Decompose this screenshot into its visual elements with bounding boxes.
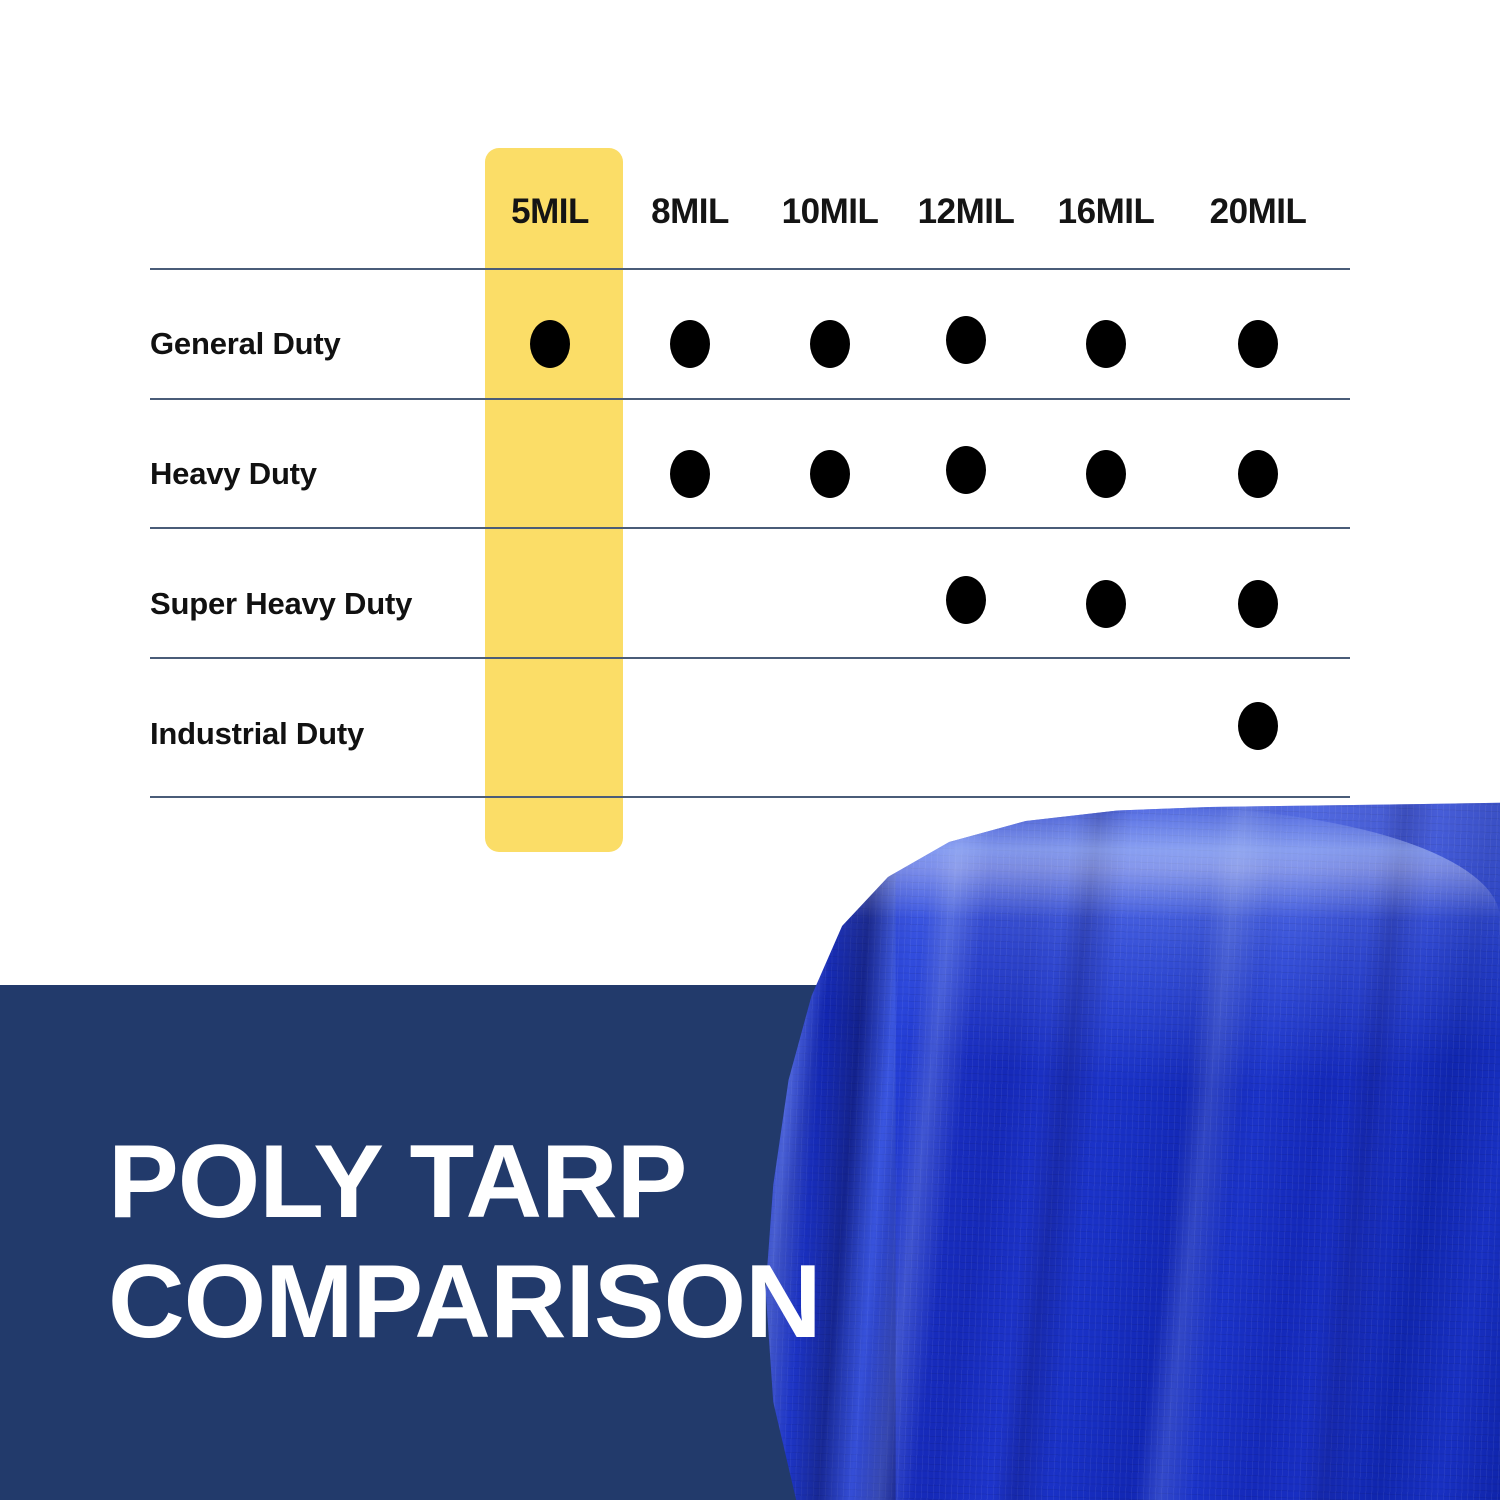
page-title-line-1: POLY TARP [108,1122,1128,1242]
dot-heavy-duty-20mil [1238,450,1278,498]
dot-general-duty-10mil [810,320,850,368]
column-header-10mil: 10MIL [755,192,905,232]
table-rule [150,268,1350,270]
dot-heavy-duty-16mil [1086,450,1126,498]
row-label-industrial-duty: Industrial Duty [150,716,364,752]
column-header-5mil: 5MIL [475,192,625,232]
dot-super-heavy-duty-12mil [946,576,986,624]
dot-heavy-duty-8mil [670,450,710,498]
row-label-heavy-duty: Heavy Duty [150,456,317,492]
table-rule [150,398,1350,400]
page-title: POLY TARP COMPARISON [108,1122,1128,1362]
dot-industrial-duty-20mil [1238,702,1278,750]
dot-general-duty-20mil [1238,320,1278,368]
column-header-20mil: 20MIL [1183,192,1333,232]
dot-heavy-duty-12mil [946,446,986,494]
dot-general-duty-5mil [530,320,570,368]
table-rule [150,796,1350,798]
table-rule [150,657,1350,659]
row-label-super-heavy-duty: Super Heavy Duty [150,586,412,622]
dot-general-duty-16mil [1086,320,1126,368]
column-header-12mil: 12MIL [891,192,1041,232]
column-header-16mil: 16MIL [1031,192,1181,232]
page-title-line-2: COMPARISON [108,1242,1128,1362]
dot-general-duty-12mil [946,316,986,364]
table-rule [150,527,1350,529]
dot-general-duty-8mil [670,320,710,368]
comparison-table: 5MIL 8MIL 10MIL 12MIL 16MIL 20MIL Genera… [0,0,1500,900]
dot-super-heavy-duty-16mil [1086,580,1126,628]
dot-heavy-duty-10mil [810,450,850,498]
poly-tarp-comparison-infographic: 5MIL 8MIL 10MIL 12MIL 16MIL 20MIL Genera… [0,0,1500,1500]
row-label-general-duty: General Duty [150,326,341,362]
dot-super-heavy-duty-20mil [1238,580,1278,628]
column-header-8mil: 8MIL [615,192,765,232]
